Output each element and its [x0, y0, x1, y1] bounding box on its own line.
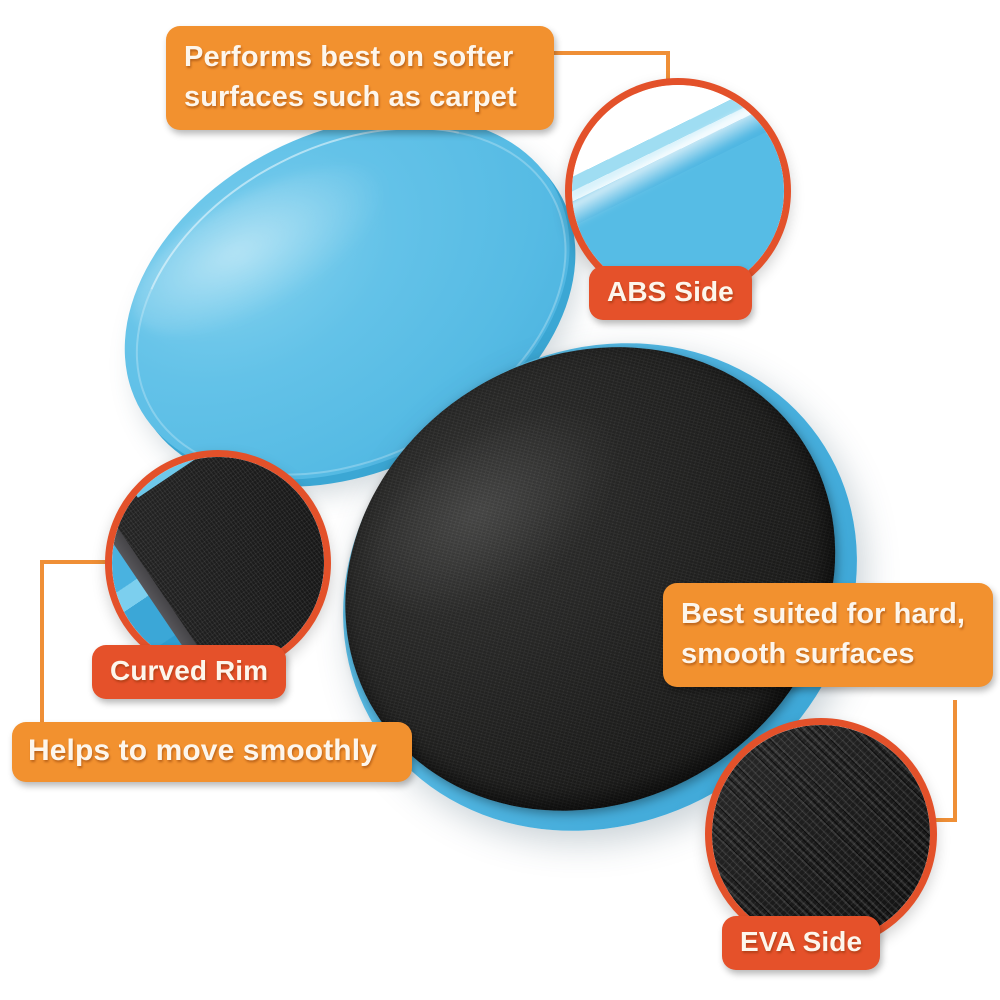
callout-text-hard-surfaces: Best suited for hard, smooth surfaces	[663, 583, 993, 687]
connector-hard-vertical	[953, 700, 957, 822]
detail-circle-curved-rim	[105, 450, 331, 676]
infographic-canvas: Performs best on softer surfaces such as…	[0, 0, 1000, 1000]
label-curved-rim: Curved Rim	[92, 645, 286, 699]
callout-text-carpet: Performs best on softer surfaces such as…	[166, 26, 554, 130]
detail-circle-rim-inner	[112, 457, 324, 669]
connector-carpet-to-abs	[548, 51, 670, 55]
label-abs-side: ABS Side	[589, 266, 752, 320]
label-eva-side: EVA Side	[722, 916, 880, 970]
connector-smooth-vertical	[40, 560, 44, 732]
callout-text-move-smoothly: Helps to move smoothly	[12, 722, 412, 782]
eva-foam-weave-texture	[712, 725, 930, 943]
detail-circle-eva-inner	[712, 725, 930, 943]
